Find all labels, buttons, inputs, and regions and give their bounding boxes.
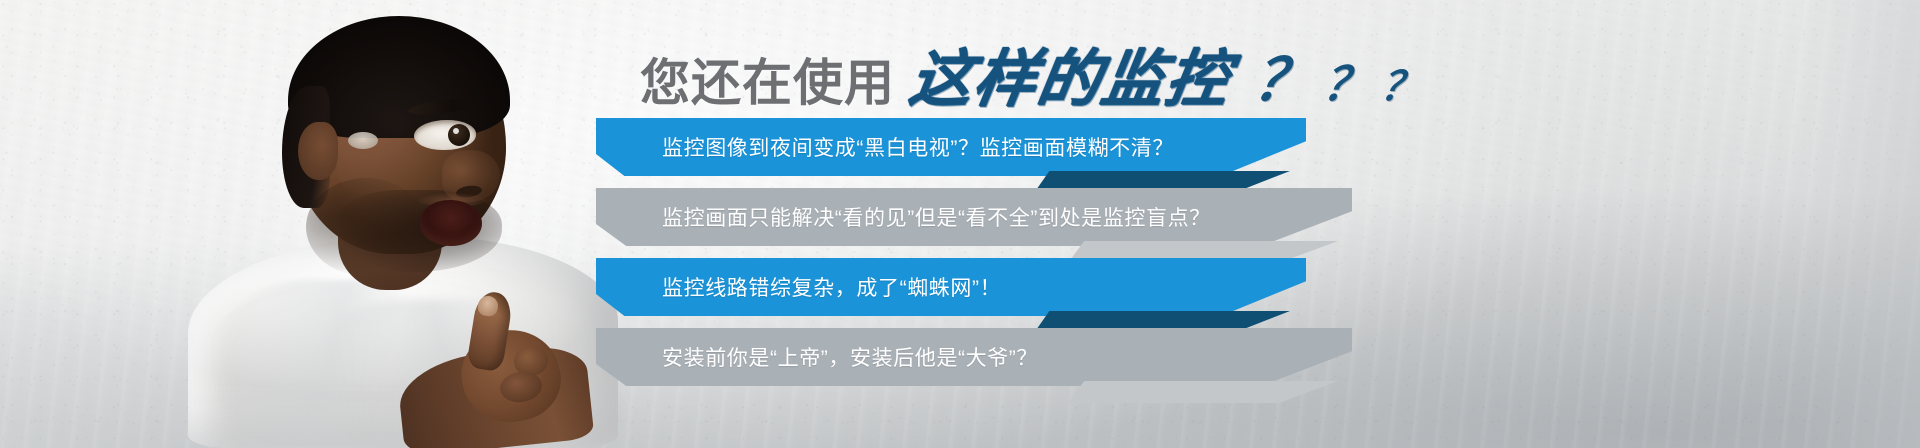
headline-prefix: 您还在使用 <box>640 43 895 115</box>
pain-point-label-1: 监控图像到夜间变成“黑白电视”？监控画面模糊不清？ <box>662 118 1174 176</box>
knuckle-upper <box>512 343 551 378</box>
hair <box>288 16 510 138</box>
pain-point-label-4: 安装前你是“上帝”，安装后他是“大爷”？ <box>662 328 1038 386</box>
fingernail <box>477 295 500 318</box>
nostril <box>455 184 482 199</box>
ear <box>298 122 338 180</box>
pain-point-item-2[interactable]: 监控画面只能解决“看的见”但是“看不全”到处是监控盲点？ <box>596 188 1352 246</box>
pain-point-label-2: 监控画面只能解决“看的见”但是“看不全”到处是监控盲点？ <box>662 188 1211 246</box>
tshirt-fold-left <box>220 280 450 440</box>
forearm <box>396 342 595 448</box>
pain-point-list: 监控图像到夜间变成“黑白电视”？监控画面模糊不清？ 监控画面只能解决“看的见”但… <box>596 118 1856 418</box>
eyebrow <box>407 96 482 118</box>
question-mark-1: ？ <box>1248 33 1319 117</box>
head <box>294 22 506 254</box>
hand <box>454 321 569 431</box>
pain-point-label-3: 监控线路错综复杂，成了“蜘蛛网”！ <box>662 258 1001 316</box>
open-mouth <box>420 200 482 246</box>
near-eye <box>414 120 476 150</box>
iris <box>448 124 470 146</box>
question-mark-3: ？ <box>1377 54 1426 112</box>
headline-emphasis: 这样的监控 <box>904 28 1238 118</box>
hero-banner: 您还在使用 这样的监控 ？ ？ ？ 监控图像到夜间变成“黑白电视”？监控画面模糊… <box>0 0 1920 448</box>
tshirt-fold-right <box>320 300 570 448</box>
knuckle-lower <box>498 369 544 405</box>
pointing-finger <box>466 290 514 373</box>
headline: 您还在使用 这样的监控 ？ ？ ？ <box>640 28 1423 118</box>
hair-sideburn <box>282 86 330 208</box>
upper-lip <box>418 193 486 207</box>
arrow-tail-4 <box>1068 381 1338 403</box>
jaw-shadow <box>306 178 426 276</box>
nose <box>442 150 500 202</box>
headline-question-marks: ？ ？ ？ <box>1248 33 1429 117</box>
neck <box>338 186 442 290</box>
beard-stubble <box>336 190 502 272</box>
pain-point-item-4[interactable]: 安装前你是“上帝”，安装后他是“大爷”？ <box>596 328 1352 386</box>
pain-point-item-1[interactable]: 监控图像到夜间变成“黑白电视”？监控画面模糊不清？ <box>596 118 1306 176</box>
question-mark-2: ？ <box>1319 48 1375 114</box>
far-eye <box>348 132 378 149</box>
pain-point-item-3[interactable]: 监控线路错综复杂，成了“蜘蛛网”！ <box>596 258 1306 316</box>
white-tshirt <box>188 236 618 448</box>
neck-shadow <box>338 196 448 266</box>
